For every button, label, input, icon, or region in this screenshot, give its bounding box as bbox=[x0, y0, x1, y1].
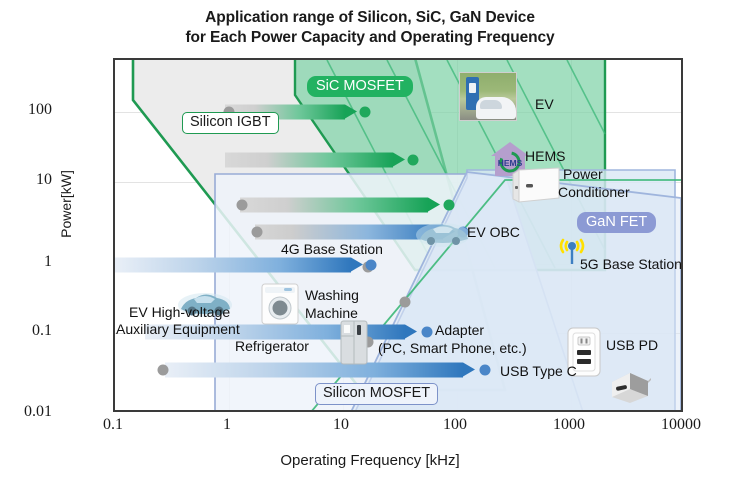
label-ev-obc: EV OBC bbox=[467, 224, 520, 240]
x-tick-10000: 10000 bbox=[661, 416, 701, 434]
ev-charging-photo bbox=[459, 72, 517, 121]
dot-usb-pd-end bbox=[422, 327, 433, 338]
y-axis-label: Power[kW] bbox=[58, 124, 74, 284]
label-power-conditioner-line1: Power bbox=[563, 166, 603, 182]
dot-power-conditioner-end bbox=[444, 200, 455, 211]
title-line-2: for Each Power Capacity and Operating Fr… bbox=[0, 28, 740, 48]
dot-washing-machine bbox=[400, 297, 411, 308]
y-tick-1: 1 bbox=[44, 253, 52, 271]
page-title: Application range of Silicon, SiC, GaN D… bbox=[0, 8, 740, 48]
badge-silicon-igbt: Silicon IGBT bbox=[182, 112, 279, 134]
dot-hems-end bbox=[408, 155, 419, 166]
bar-5g-base-station bbox=[115, 258, 363, 273]
badge-sic-mosfet: SiC MOSFET bbox=[307, 76, 413, 97]
x-tick-1: 1 bbox=[223, 416, 231, 434]
y-tick-10: 10 bbox=[36, 171, 52, 189]
y-tick-0.01: 0.01 bbox=[24, 403, 52, 421]
badge-silicon-mosfet: Silicon MOSFET bbox=[315, 383, 438, 405]
label-adapter-line1: Adapter bbox=[435, 322, 484, 338]
label-usb-pd: USB PD bbox=[606, 337, 658, 353]
chart-root: Application range of Silicon, SiC, GaN D… bbox=[0, 0, 740, 494]
bar-usb-type-c bbox=[165, 363, 475, 378]
label-refrigerator: Refrigerator bbox=[235, 338, 309, 354]
label-washing-line1: Washing bbox=[305, 287, 359, 303]
label-ev: EV bbox=[535, 96, 554, 112]
badge-gan-fet: GaN FET bbox=[577, 212, 656, 233]
label-ev-aux-line1: EV High-voltage bbox=[129, 304, 230, 320]
label-4g-base-station: 4G Base Station bbox=[281, 241, 383, 257]
label-hems: HEMS bbox=[525, 148, 565, 164]
dot-usb-c-start bbox=[158, 365, 169, 376]
dot-ev-obc-start bbox=[252, 227, 263, 238]
washing-machine-icon bbox=[260, 282, 300, 326]
x-tick-10: 10 bbox=[333, 416, 349, 434]
label-5g-base-station: 5G Base Station bbox=[580, 256, 682, 272]
dot-5g-bar-mid bbox=[366, 260, 377, 271]
refrigerator-icon bbox=[340, 320, 368, 365]
label-usb-type-c: USB Type C bbox=[500, 363, 577, 379]
plot-area: HEMS bbox=[113, 58, 683, 412]
x-axis-label: Operating Frequency [kHz] bbox=[0, 452, 740, 469]
power-conditioner-icon bbox=[511, 166, 563, 204]
label-adapter-line2: (PC, Smart Phone, etc.) bbox=[378, 340, 527, 356]
y-tick-100: 100 bbox=[28, 101, 52, 119]
y-tick-0.1: 0.1 bbox=[32, 322, 52, 340]
title-line-1: Application range of Silicon, SiC, GaN D… bbox=[0, 8, 740, 28]
x-tick-0.1: 0.1 bbox=[103, 416, 123, 434]
ev-obc-car-icon bbox=[415, 218, 471, 248]
label-washing-line2: Machine bbox=[305, 305, 358, 321]
label-ev-aux-line2: Auxiliary Equipment bbox=[116, 321, 240, 337]
usb-type-c-adapter-icon bbox=[608, 370, 652, 404]
dot-ev-end bbox=[360, 107, 371, 118]
bar-hems bbox=[225, 153, 405, 168]
label-power-conditioner-line2: Conditioner bbox=[558, 184, 630, 200]
x-tick-1000: 1000 bbox=[553, 416, 585, 434]
dot-power-conditioner-start bbox=[237, 200, 248, 211]
bar-power-conditioner bbox=[240, 198, 440, 213]
x-tick-100: 100 bbox=[443, 416, 467, 434]
dot-usb-c-end bbox=[480, 365, 491, 376]
